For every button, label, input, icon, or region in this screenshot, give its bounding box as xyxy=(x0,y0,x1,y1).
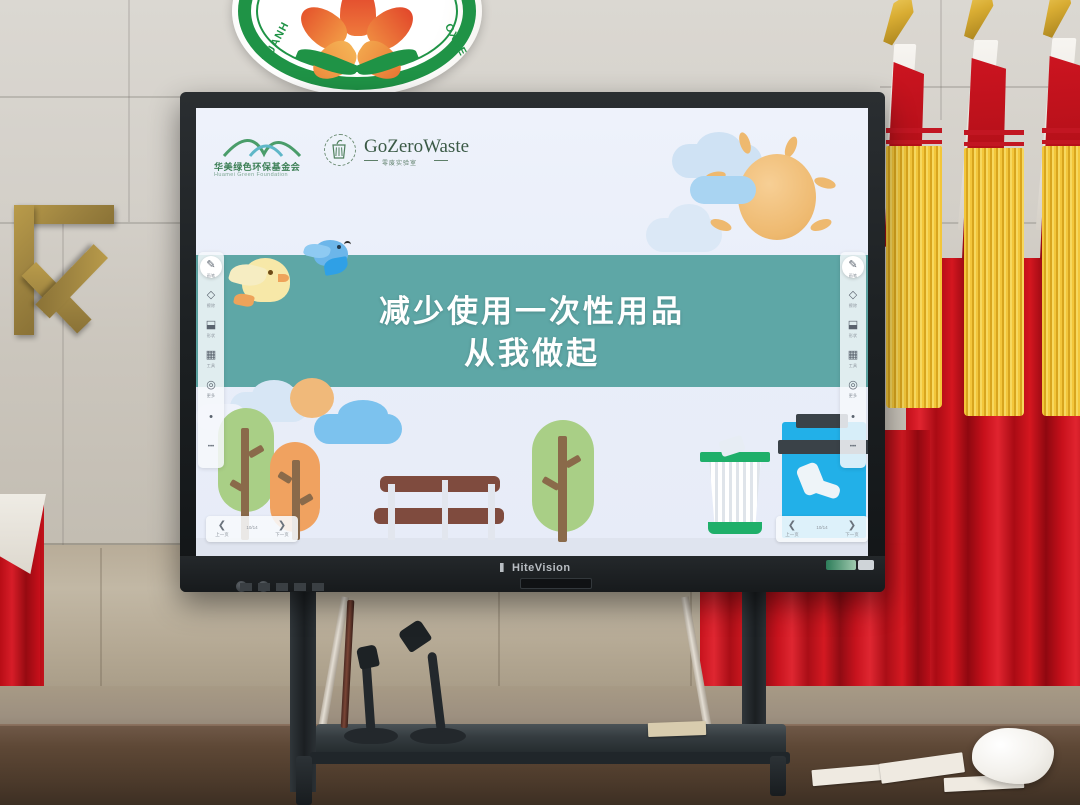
more-icon: • xyxy=(205,411,217,423)
cloud-4b xyxy=(338,400,388,430)
page-nav-left-prev-button[interactable]: ❮ 上一页 xyxy=(208,520,236,538)
page-nav-left-prev-label: 上一页 xyxy=(208,531,236,538)
toolbar-right[interactable]: ✎ 画笔 ◇ 擦除 ⬓ 形状 ▦ 工具 ◎ 更多 xyxy=(840,252,866,468)
mountain-logo-icon xyxy=(220,124,306,158)
cloud-1b xyxy=(696,132,742,166)
toolbar-left-item-pen[interactable]: ✎ 画笔 xyxy=(198,254,224,284)
flag-tassel-2 xyxy=(964,148,1024,416)
wainscot-seam-1 xyxy=(100,548,102,686)
flag-tassel-band2-3 xyxy=(1042,140,1080,144)
flag-tassel-1 xyxy=(886,146,942,408)
table-tissue xyxy=(972,728,1054,784)
flag-tassel-3 xyxy=(1042,146,1080,416)
page-nav-left-next-label: 下一页 xyxy=(268,531,296,538)
toolbar-right-item-layers[interactable]: ◎ 更多 xyxy=(840,374,866,404)
display-ir-window xyxy=(520,578,592,589)
page-nav-right-prev-label: 上一页 xyxy=(778,531,806,538)
display-screen[interactable]: 减少使用一次性用品 从我做起 xyxy=(196,108,868,556)
shape-icon: ⬓ xyxy=(847,319,859,331)
toolbar-right-item-eraser[interactable]: ◇ 擦除 xyxy=(840,284,866,314)
equipment-shelf-edge xyxy=(310,752,790,764)
flag-tassel-band2-1 xyxy=(886,140,942,144)
room-photo-scene: XUANH OXUE xyxy=(0,0,1080,805)
toolbar-right-item-shape[interactable]: ⬓ 形状 xyxy=(840,314,866,344)
gzw-wordmark: GoZeroWaste xyxy=(364,136,469,158)
more-icon: • xyxy=(847,411,859,423)
toolbar-left-label-eraser: 擦除 xyxy=(198,303,224,309)
page-nav-right-next-button[interactable]: ❯ 下一页 xyxy=(838,520,866,538)
toolbar-left-item-grid[interactable]: ▦ 工具 xyxy=(198,344,224,374)
collapse-icon: ••• xyxy=(847,441,859,453)
grid-icon: ▦ xyxy=(205,349,217,361)
toolbar-left-item-layers[interactable]: ◎ 更多 xyxy=(198,374,224,404)
flag-tassel-band-1 xyxy=(886,128,942,133)
shelf-notepad xyxy=(648,721,706,737)
eraser-icon: ◇ xyxy=(205,289,217,301)
display-status-led-secondary xyxy=(858,560,874,570)
trash-bin-icon xyxy=(330,139,348,159)
cloud-near-sun xyxy=(690,176,756,204)
cloud-orange xyxy=(290,378,334,418)
pen-icon: ✎ xyxy=(205,259,217,271)
pen-icon: ✎ xyxy=(847,259,859,271)
toolbar-right-item-more[interactable]: • xyxy=(840,406,866,436)
display-port-row xyxy=(240,583,330,591)
page-nav-right-counter: 10/14 xyxy=(808,524,836,531)
toolbar-left-label-pen: 画笔 xyxy=(198,273,224,279)
hitevision-logo-icon xyxy=(500,563,509,572)
layers-icon: ◎ xyxy=(847,379,859,391)
toolbar-right-label-grid: 工具 xyxy=(840,363,866,369)
page-nav-left[interactable]: ❮ 上一页 10/14 ❯ 下一页 xyxy=(206,516,298,542)
sun-ray-3 xyxy=(813,175,837,191)
display-brand-text: HiteVision xyxy=(512,562,571,574)
eraser-icon: ◇ xyxy=(847,289,859,301)
page-nav-right[interactable]: ❮ 上一页 10/14 ❯ 下一页 xyxy=(776,516,868,542)
stand-leg-left xyxy=(296,756,312,805)
toolbar-left-label-shape: 形状 xyxy=(198,333,224,339)
gzw-rule-left xyxy=(364,160,378,161)
slide-title-line-1: 减少使用一次性用品 xyxy=(196,286,868,331)
toolbar-left-label-grid: 工具 xyxy=(198,363,224,369)
grid-icon: ▦ xyxy=(847,349,859,361)
layers-icon: ◎ xyxy=(205,379,217,391)
page-nav-left-counter: 10/14 xyxy=(238,524,266,531)
toolbar-right-item-collapse[interactable]: ••• xyxy=(840,436,866,466)
wall-seam-vertical-1 xyxy=(128,0,130,222)
flag-tassel-band-2 xyxy=(964,130,1024,135)
chevron-left-icon: ❮ xyxy=(208,520,236,531)
chevron-right-icon: ❯ xyxy=(838,520,866,531)
page-nav-left-next-button[interactable]: ❯ 下一页 xyxy=(268,520,296,538)
gzw-rule-right xyxy=(434,160,448,161)
toolbar-right-label-pen: 画笔 xyxy=(840,273,866,279)
toolbar-left-item-more[interactable]: • xyxy=(198,406,224,436)
page-nav-right-prev-button[interactable]: ❮ 上一页 xyxy=(778,520,806,538)
shape-icon: ⬓ xyxy=(205,319,217,331)
toolbar-left-item-collapse[interactable]: ••• xyxy=(198,436,224,466)
slide-title-line-2: 从我做起 xyxy=(196,328,868,373)
toolbar-left-item-eraser[interactable]: ◇ 擦除 xyxy=(198,284,224,314)
flag-tassel-band-3 xyxy=(1042,128,1080,133)
page-nav-right-next-label: 下一页 xyxy=(838,531,866,538)
toolbar-left[interactable]: ✎ 画笔 ◇ 擦除 ⬓ 形状 ▦ 工具 ◎ 更多 xyxy=(198,252,224,468)
display-brand-label: HiteVision xyxy=(500,562,571,574)
toolbar-left-item-shape[interactable]: ⬓ 形状 xyxy=(198,314,224,344)
gzw-subtitle: 零废实验室 xyxy=(382,158,417,167)
toolbar-left-label-layers: 更多 xyxy=(198,393,224,399)
chevron-left-icon: ❮ xyxy=(778,520,806,531)
toolbar-right-label-layers: 更多 xyxy=(840,393,866,399)
toolbar-right-item-grid[interactable]: ▦ 工具 xyxy=(840,344,866,374)
wall-seam-vertical-3 xyxy=(940,0,942,120)
toolbar-right-item-pen[interactable]: ✎ 画笔 xyxy=(840,254,866,284)
toolbar-right-label-eraser: 擦除 xyxy=(840,303,866,309)
stand-leg-right xyxy=(770,756,786,796)
wall-seam-vertical-2 xyxy=(62,222,64,552)
collapse-icon: ••• xyxy=(205,441,217,453)
chevron-right-icon: ❯ xyxy=(268,520,296,531)
flag-tassel-band2-2 xyxy=(964,142,1024,146)
display-status-led xyxy=(826,560,856,570)
foundation-name-en: Huamei Green Foundation xyxy=(214,172,288,178)
slide-canvas[interactable]: 减少使用一次性用品 从我做起 xyxy=(196,108,868,556)
cloud-2b xyxy=(668,204,710,238)
sun-ray-4 xyxy=(809,217,833,234)
toolbar-right-label-shape: 形状 xyxy=(840,333,866,339)
